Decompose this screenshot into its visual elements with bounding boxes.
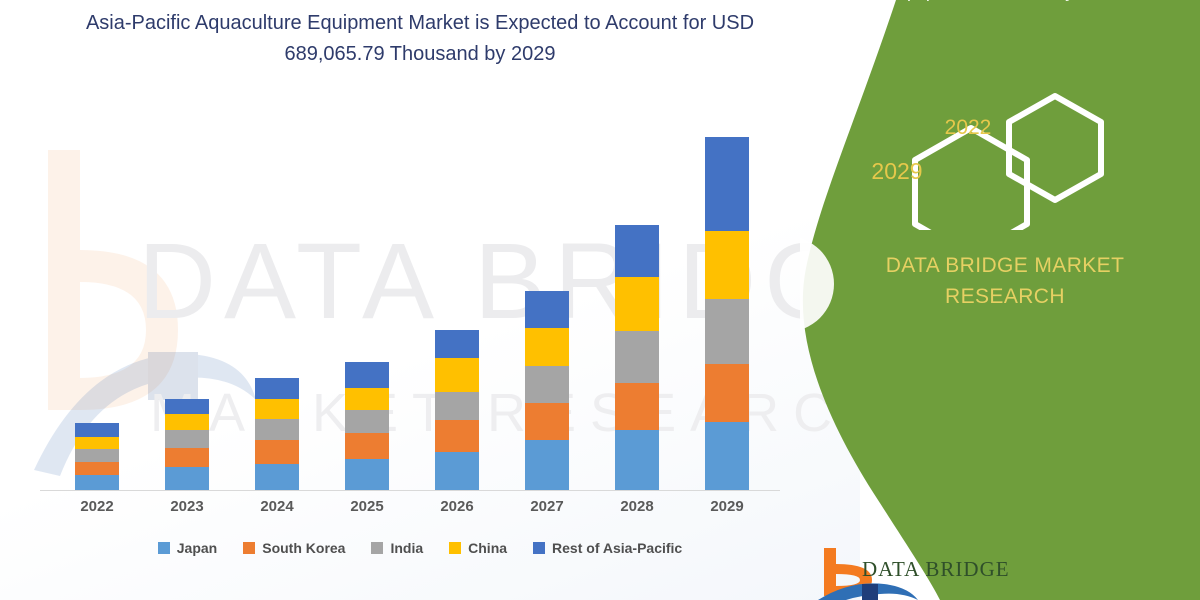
chart-legend: JapanSouth KoreaIndiaChinaRest of Asia-P…: [60, 540, 780, 556]
bar-stack: [165, 399, 209, 490]
brand-panel: Equipment Market, By 2029 2022 2029 DATA…: [800, 0, 1200, 600]
bar-segment-china: [705, 231, 749, 299]
bar-segment-india: [165, 430, 209, 448]
legend-label: Japan: [177, 540, 217, 556]
bar-segment-south-korea: [435, 420, 479, 452]
x-axis-tick-label: 2029: [692, 498, 762, 515]
bar-segment-south-korea: [345, 433, 389, 459]
legend-item[interactable]: Rest of Asia-Pacific: [533, 540, 682, 556]
stacked-bar-chart: 20222023202420252026202720282029: [0, 0, 860, 600]
bar-stack: [615, 225, 659, 490]
x-axis-tick-label: 2025: [332, 498, 402, 515]
brand-panel-heading: Equipment Market, By 2029: [830, 0, 1180, 5]
legend-swatch-icon: [533, 542, 545, 554]
bar-segment-india: [435, 392, 479, 420]
x-axis-tick-label: 2027: [512, 498, 582, 515]
bar-segment-japan: [705, 422, 749, 490]
bar-segment-india: [525, 366, 569, 403]
bar-segment-india: [705, 299, 749, 364]
bar-stack: [705, 137, 749, 490]
bar-segment-rest-of-asia-pacific: [705, 137, 749, 231]
bar-segment-rest-of-asia-pacific: [255, 378, 299, 399]
legend-item[interactable]: China: [449, 540, 507, 556]
bar-segment-south-korea: [75, 462, 119, 475]
bar-segment-rest-of-asia-pacific: [345, 362, 389, 387]
bar-segment-japan: [525, 440, 569, 490]
hexagon-2022-label: 2022: [928, 116, 1008, 140]
bar-segment-south-korea: [705, 364, 749, 422]
logo-wordmark: DATA BRIDGE: [862, 557, 1010, 582]
x-axis-line: [40, 490, 780, 491]
legend-label: China: [468, 540, 507, 556]
x-axis-tick-label: 2026: [422, 498, 492, 515]
bar-segment-japan: [345, 459, 389, 490]
legend-item[interactable]: India: [371, 540, 423, 556]
bar-stack: [75, 423, 119, 490]
bar-segment-china: [345, 388, 389, 411]
bar-segment-china: [165, 414, 209, 430]
bar-segment-japan: [75, 475, 119, 490]
bar-segment-japan: [435, 452, 479, 490]
x-axis-tick-label: 2023: [152, 498, 222, 515]
infographic-root: DATA BRIDGE MARKET RESEARCH Asia-Pacific…: [0, 0, 1200, 600]
plot-area: [52, 110, 772, 490]
legend-swatch-icon: [371, 542, 383, 554]
legend-swatch-icon: [158, 542, 170, 554]
bar-segment-south-korea: [525, 403, 569, 440]
legend-swatch-icon: [449, 542, 461, 554]
hexagon-2022-shape: [1009, 96, 1101, 200]
bar-stack: [525, 291, 569, 490]
bar-segment-rest-of-asia-pacific: [435, 330, 479, 359]
decorative-circle: [800, 236, 834, 332]
bar-segment-india: [615, 331, 659, 383]
bar-segment-south-korea: [615, 383, 659, 430]
bar-segment-south-korea: [165, 448, 209, 467]
bar-segment-japan: [615, 430, 659, 490]
bar-segment-rest-of-asia-pacific: [525, 291, 569, 328]
x-axis-tick-label: 2024: [242, 498, 312, 515]
legend-item[interactable]: Japan: [158, 540, 217, 556]
bar-segment-china: [615, 277, 659, 330]
brand-panel-content: Equipment Market, By 2029 2022 2029 DATA…: [800, 0, 1200, 600]
bar-segment-india: [255, 419, 299, 441]
bar-segment-rest-of-asia-pacific: [75, 423, 119, 437]
bar-segment-india: [345, 410, 389, 433]
bar-segment-china: [255, 399, 299, 419]
legend-label: India: [390, 540, 423, 556]
bar-stack: [345, 362, 389, 490]
bar-segment-china: [525, 328, 569, 366]
bar-segment-china: [75, 437, 119, 449]
legend-item[interactable]: South Korea: [243, 540, 345, 556]
x-axis-tick-label: 2028: [602, 498, 672, 515]
bar-segment-china: [435, 358, 479, 392]
bar-segment-japan: [255, 464, 299, 490]
brand-name: DATA BRIDGE MARKET RESEARCH: [840, 250, 1170, 312]
bar-segment-japan: [165, 467, 209, 490]
chart-panel: DATA BRIDGE MARKET RESEARCH Asia-Pacific…: [0, 0, 860, 600]
legend-label: Rest of Asia-Pacific: [552, 540, 682, 556]
x-axis-tick-label: 2022: [62, 498, 132, 515]
bar-stack: [435, 330, 479, 490]
bar-segment-india: [75, 449, 119, 462]
bar-segment-rest-of-asia-pacific: [165, 399, 209, 414]
bar-segment-south-korea: [255, 440, 299, 464]
bar-segment-rest-of-asia-pacific: [615, 225, 659, 277]
hexagon-2029-label: 2029: [852, 158, 942, 185]
bar-stack: [255, 378, 299, 490]
legend-swatch-icon: [243, 542, 255, 554]
legend-label: South Korea: [262, 540, 345, 556]
